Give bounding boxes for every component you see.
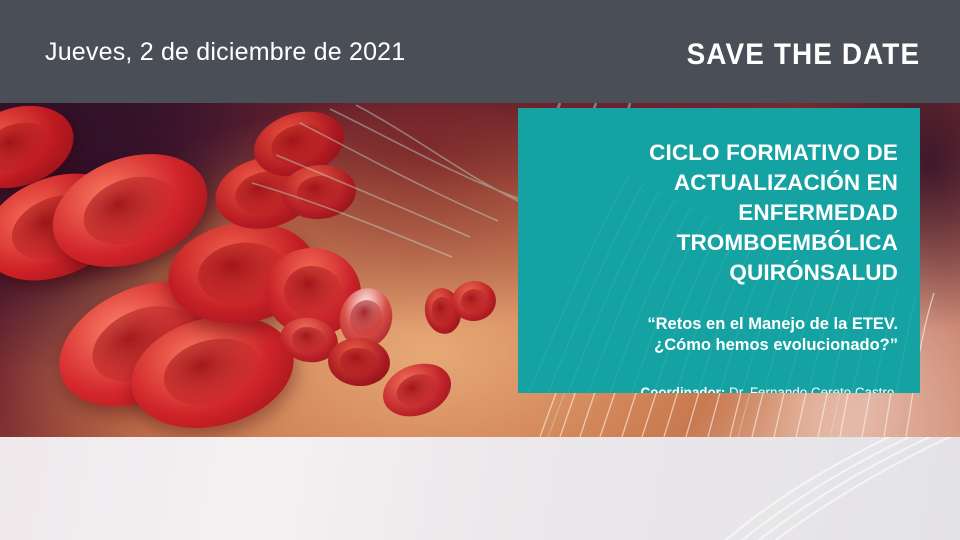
course-subtitle-line-2: ¿Cómo hemos evolucionado?”: [540, 335, 898, 356]
course-title: CICLO FORMATIVO DE ACTUALIZACIÓN EN ENFE…: [540, 138, 898, 288]
course-title-line-1: CICLO FORMATIVO DE: [540, 138, 898, 168]
coordinator-name: Dr. Fernando Cereto Castro.: [725, 385, 898, 393]
panel-content: CICLO FORMATIVO DE ACTUALIZACIÓN EN ENFE…: [518, 108, 920, 393]
sponsor-footer: Bristol Myers Squibb™ Pfizer CENTRO MÉDI…: [0, 437, 960, 540]
save-the-date-poster: Jueves, 2 de diciembre de 2021 SAVE THE …: [0, 0, 960, 540]
header-bar: Jueves, 2 de diciembre de 2021 SAVE THE …: [0, 0, 960, 103]
save-the-date-title: SAVE THE DATE: [686, 38, 920, 72]
course-title-line-2: ACTUALIZACIÓN EN ENFERMEDAD: [540, 168, 898, 228]
event-info-panel: CICLO FORMATIVO DE ACTUALIZACIÓN EN ENFE…: [518, 108, 920, 393]
coordinator-label: Coordinador:: [641, 385, 726, 393]
coordinator-block: Coordinador: Dr. Fernando Cereto Castro.…: [540, 383, 898, 393]
event-date: Jueves, 2 de diciembre de 2021: [45, 38, 405, 67]
coordinator-line: Coordinador: Dr. Fernando Cereto Castro.: [540, 383, 898, 393]
course-title-line-3: TROMBOEMBÓLICA QUIRÓNSALUD: [540, 228, 898, 288]
footer-swoosh-icon: [710, 437, 960, 540]
course-subtitle: “Retos en el Manejo de la ETEV. ¿Cómo he…: [540, 314, 898, 357]
course-subtitle-line-1: “Retos en el Manejo de la ETEV.: [540, 314, 898, 335]
